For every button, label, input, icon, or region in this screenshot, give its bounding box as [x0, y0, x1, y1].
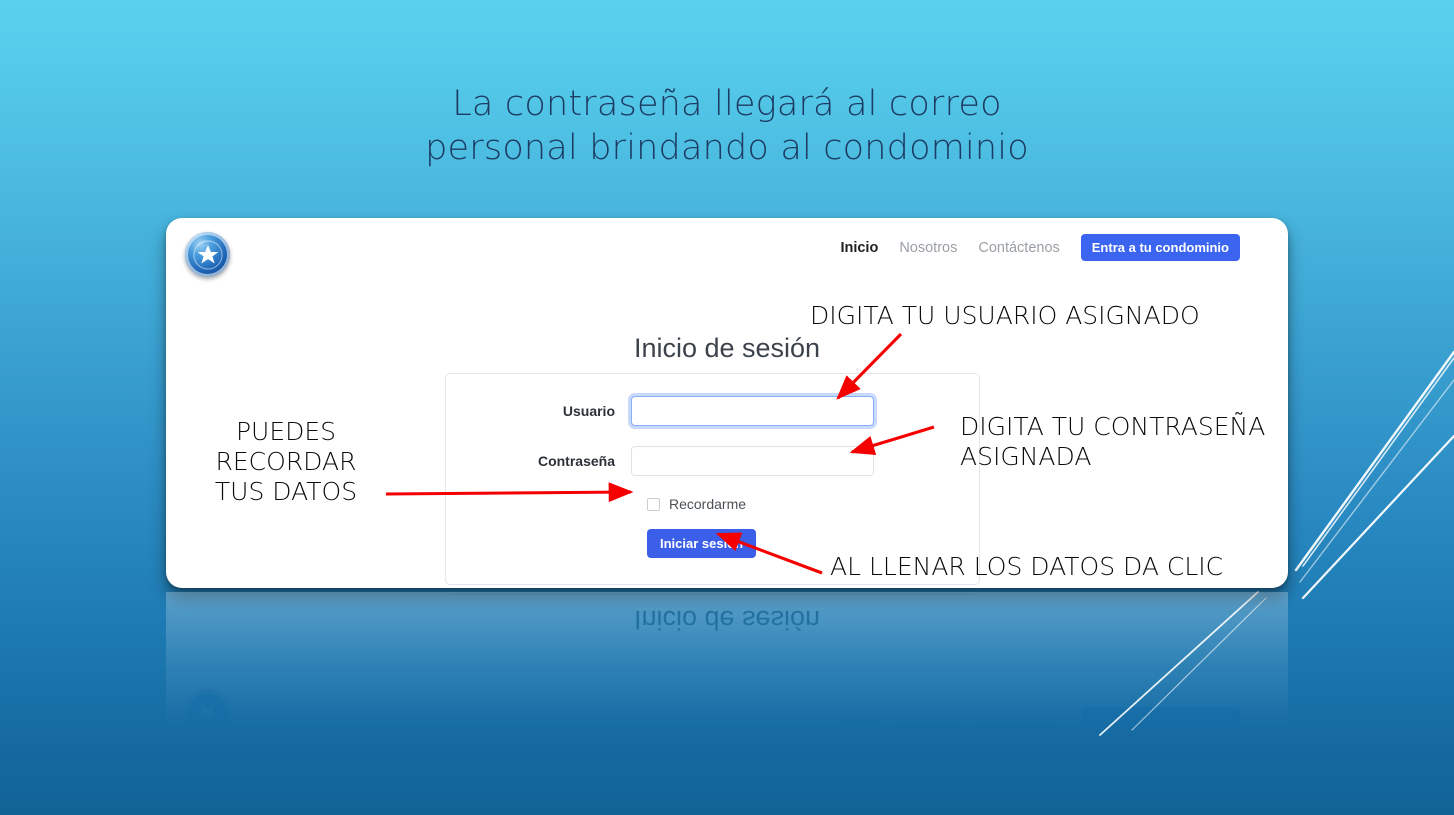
nav-link-inicio[interactable]: Inicio [840, 240, 878, 256]
annotation-password: DIGITA TU CONTRASEÑA ASIGNADA [960, 412, 1265, 472]
password-label: Contraseña [446, 453, 631, 469]
password-input[interactable] [631, 446, 874, 476]
remember-me-row: Recordarme [647, 496, 979, 512]
slide-canvas: La contraseña llegará al correo personal… [0, 0, 1454, 815]
star-badge-logo-icon [185, 691, 230, 736]
username-row: Usuario [446, 396, 979, 426]
annotation-remember: PUEDES RECORDAR TUS DATOS [178, 417, 394, 507]
slide-title: La contraseña llegará al correo personal… [0, 82, 1454, 170]
password-row: Contraseña [446, 446, 979, 476]
username-label: Usuario [446, 403, 631, 419]
main-nav: Inicio Nosotros Contáctenos Entra a tu c… [840, 707, 1240, 734]
annotation-username: DIGITA TU USUARIO ASIGNADO [810, 301, 1200, 331]
remember-me-label[interactable]: Recordarme [669, 496, 746, 512]
browser-window: Inicio Nosotros Contáctenos Entra a tu c… [166, 218, 1288, 588]
star-badge-logo-icon[interactable] [185, 232, 230, 277]
login-heading: Inicio de sesión [166, 604, 1288, 635]
username-input[interactable] [631, 396, 874, 426]
remember-me-checkbox[interactable] [647, 498, 660, 511]
nav-link-inicio: Inicio [840, 713, 878, 729]
login-heading: Inicio de sesión [166, 333, 1288, 364]
annotation-click: AL LLENAR LOS DATOS DA CLIC [830, 552, 1223, 582]
site-header: Inicio Nosotros Contáctenos Entra a tu c… [166, 688, 1288, 750]
window-reflection: Inicio Nosotros Contáctenos Entra a tu c… [166, 592, 1288, 750]
nav-link-nosotros[interactable]: Nosotros [899, 240, 957, 256]
nav-link-contactenos: Contáctenos [978, 713, 1059, 729]
site-header: Inicio Nosotros Contáctenos Entra a tu c… [166, 218, 1288, 280]
enter-condominium-button: Entra a tu condominio [1081, 707, 1240, 734]
main-nav: Inicio Nosotros Contáctenos Entra a tu c… [840, 234, 1240, 261]
enter-condominium-button[interactable]: Entra a tu condominio [1081, 234, 1240, 261]
nav-link-nosotros: Nosotros [899, 713, 957, 729]
login-submit-button[interactable]: Iniciar sesión [647, 529, 756, 558]
login-form-card: Usuario Contraseña Recordarme Iniciar se… [445, 592, 980, 595]
nav-link-contactenos[interactable]: Contáctenos [978, 240, 1059, 256]
